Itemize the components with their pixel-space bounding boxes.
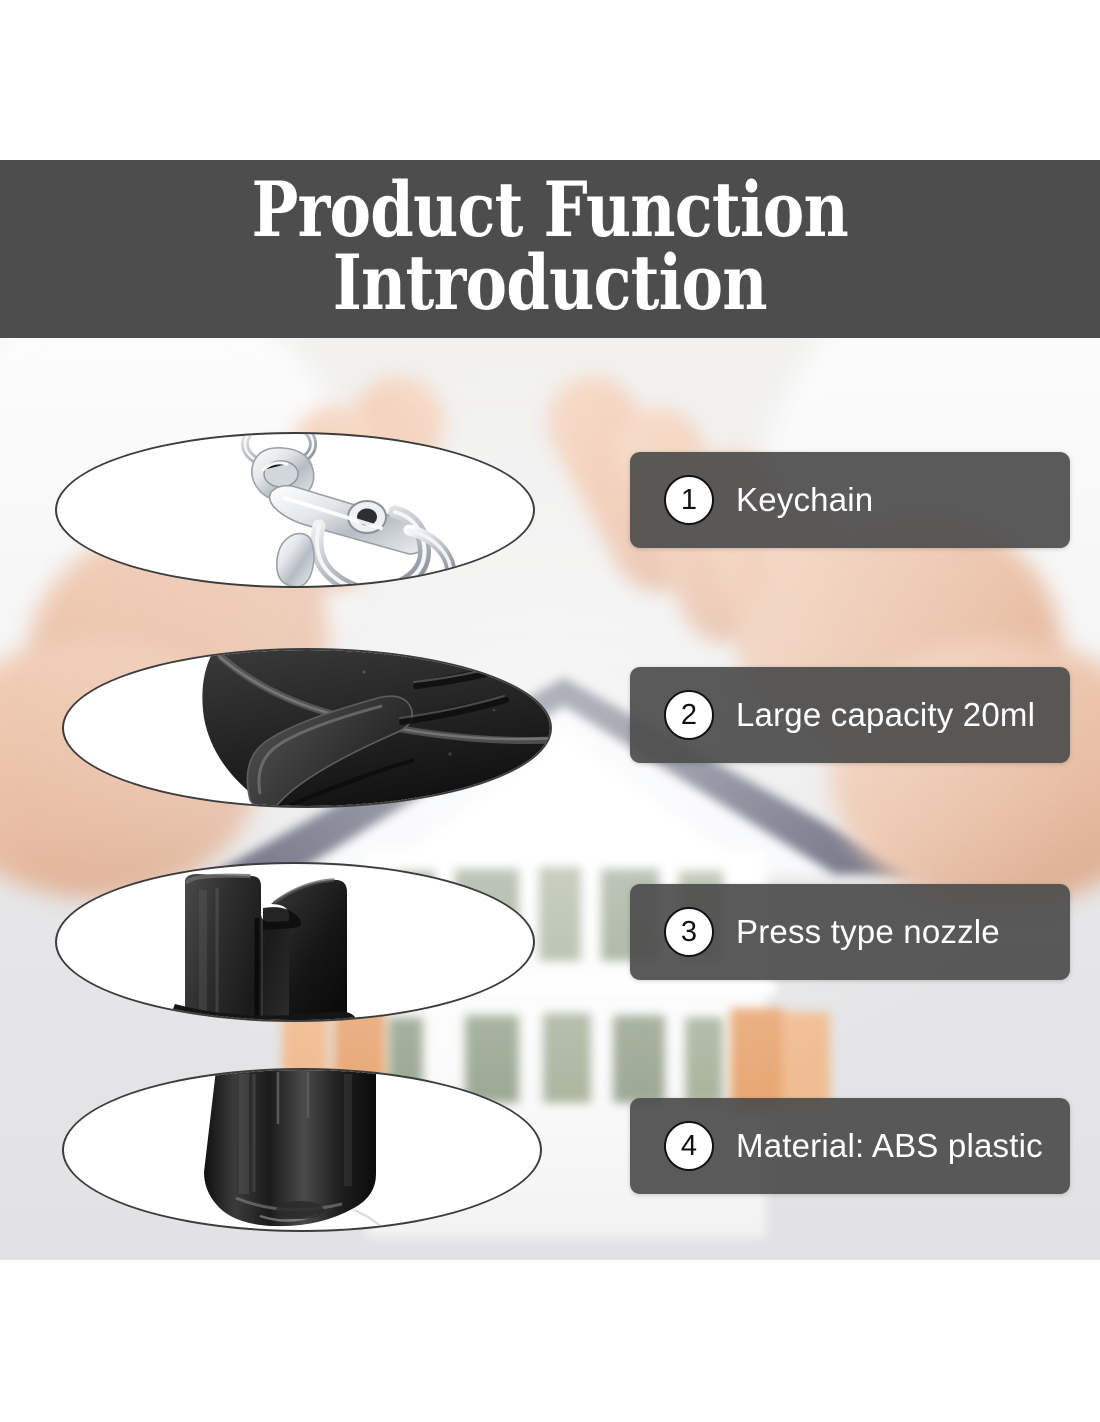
feature-label-text: Large capacity 20ml	[736, 696, 1035, 734]
callout-bottle-body	[62, 648, 552, 808]
feature-label-text: Material: ABS plastic	[736, 1127, 1043, 1165]
feature-label-text: Press type nozzle	[736, 913, 1000, 951]
page-title: Product Function Introduction	[252, 174, 849, 324]
callout-oval	[62, 648, 552, 808]
callout-bottle-base	[62, 1068, 542, 1232]
callout-oval	[55, 432, 535, 588]
callout-nozzle	[55, 862, 535, 1022]
feature-label-3[interactable]: 3 Press type nozzle	[630, 884, 1070, 980]
bottle-base-icon	[64, 1070, 540, 1230]
product-infographic: Product Function Introduction	[0, 0, 1100, 1422]
feature-label-1[interactable]: 1 Keychain	[630, 452, 1070, 548]
press-nozzle-icon	[57, 864, 533, 1020]
keychain-clasp-icon	[57, 434, 533, 586]
bottom-white-margin	[0, 1260, 1100, 1422]
top-white-margin	[0, 0, 1100, 160]
callout-oval	[62, 1068, 542, 1232]
feature-label-4[interactable]: 4 Material: ABS plastic	[630, 1098, 1070, 1194]
callout-keychain	[55, 432, 535, 588]
feature-number-badge: 2	[664, 690, 714, 740]
feature-label-text: Keychain	[736, 481, 873, 519]
feature-number-badge: 1	[664, 475, 714, 525]
callout-oval	[55, 862, 535, 1022]
feature-number-badge: 4	[664, 1121, 714, 1171]
feature-number-badge: 3	[664, 907, 714, 957]
header-banner: Product Function Introduction	[0, 160, 1100, 338]
bottle-body-closeup-icon	[64, 650, 550, 806]
feature-label-2[interactable]: 2 Large capacity 20ml	[630, 667, 1070, 763]
